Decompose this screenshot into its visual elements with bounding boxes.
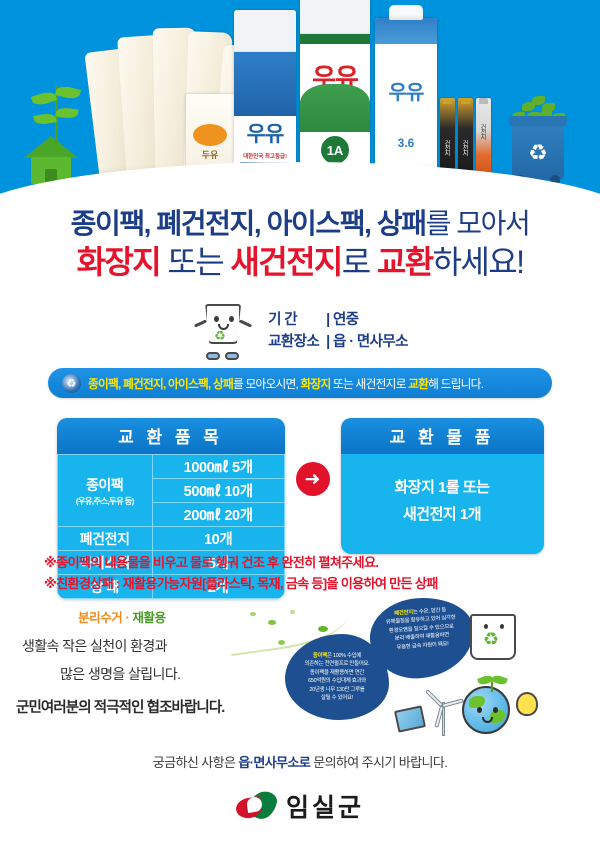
ribbon-text: 종이팩, 폐건전지, 아이스팩, 상패를 모아오시면, 화장지 또는 새건전지로… — [88, 375, 483, 392]
contact-office: 읍·면사무소로 — [238, 755, 310, 770]
recycle-symbol-icon: ♻ — [512, 142, 564, 164]
plant-sprout-icon — [30, 78, 86, 144]
place-divider: | — [326, 334, 329, 350]
milk-carton-1-label: 우유 — [234, 118, 296, 148]
blob1-line-4: 20년생 나무 130만 그루를 — [293, 686, 381, 694]
ribbon-tail: 해 드립니다. — [428, 378, 483, 391]
exchange-reward-body: 화장지 1롤 또는 새건전지 1개 — [341, 454, 544, 554]
milk-carton-cap — [389, 5, 423, 20]
period-place-block: ♻ 기 간| 연중 교환장소| 읍 · 면사무소 — [0, 300, 600, 362]
battery-1-label: 건전지 — [442, 140, 451, 155]
recycle-symbol-icon: ♻ — [483, 630, 499, 648]
period-row: 기 간| 연중 — [268, 309, 408, 331]
reward-line-1: 화장지 1롤 또는 — [341, 474, 544, 501]
table-row: 종이팩 (우유,주스,두유 등) 1000㎖ 5개 — [57, 455, 284, 479]
milk-carton-2: 우유 1A — [300, 0, 370, 178]
decorative-dot — [278, 640, 285, 645]
blob1-line-2: 종이팩을 재활용하면 연간 — [293, 669, 381, 677]
headline-exchange: 교환 — [377, 244, 433, 280]
earth-mascot-icon — [462, 686, 510, 734]
ribbon-tissue: 화장지 — [301, 378, 331, 391]
headline-items: 종이팩, 폐건전지, 아이스팩, 상패 — [71, 208, 426, 239]
cooperation-request: 군민여러분의 적극적인 협조바랍니다. — [16, 696, 224, 717]
decorative-dot — [318, 626, 328, 632]
ribbon-or: 또는 새건전지로 — [331, 378, 409, 391]
headline-tissue: 화장지 — [77, 244, 161, 280]
exchange-arrow-wrap: ➜ — [285, 418, 341, 496]
row-qty-battery: 10개 — [152, 527, 284, 551]
battery-2-label: 건전지 — [460, 140, 469, 155]
blob1-line-0: 종이팩은 100% 수입에 — [293, 652, 381, 660]
row-name-paper-sub: (우유,주스,두유 등) — [60, 495, 150, 507]
row-name-paper-text: 종이팩 — [86, 477, 123, 493]
place-value: 읍 · 면사무소 — [333, 334, 408, 350]
exchange-items-title: 교 환 품 목 — [57, 418, 285, 454]
wind-turbine-icon — [420, 692, 466, 736]
county-logo: 임실군 — [0, 788, 600, 824]
contact-line: 궁금하신 사항은 읍·면사무소로 문의하여 주시기 바랍니다. — [0, 752, 600, 771]
reward-line-2: 새건전지 1개 — [341, 501, 544, 528]
milk-carton-3-fat: 3.6 — [375, 136, 437, 150]
battery-3-label: 건전지 — [478, 124, 487, 139]
headline-line1-tail: 를 모아서 — [426, 208, 530, 239]
headline-to: 로 — [342, 244, 377, 280]
note-2: ※친환경상패 : 재활용가능자원[플라스틱, 목재, 금속 등]을 이용하여 만… — [44, 573, 574, 594]
decorative-dot — [250, 612, 256, 616]
exchange-reward-title: 교 환 물 품 — [341, 418, 544, 454]
period-place-text: 기 간| 연중 교환장소| 읍 · 면사무소 — [268, 309, 408, 353]
battery-2: 건전지 — [458, 98, 473, 178]
milk-carton-3: 우유 3.6 — [375, 18, 437, 178]
blob1-line-5: 살릴 수 있어요! — [293, 694, 381, 702]
place-label: 교환장소 — [268, 331, 326, 353]
trash-can-mascot-icon: ♻ — [192, 300, 254, 362]
row-name-battery: 폐건전지 — [57, 527, 152, 551]
poster-root: 두유 우유 대한민국 최고등급! 우유 1A 우유 3.6 건전지 — [0, 0, 600, 843]
lower-section: 분리수거 · 재활용 생활속 작은 실천이 환경과 많은 생명을 살립니다. 군… — [0, 600, 600, 750]
headline-line-1: 종이팩, 폐건전지, 아이스팩, 상패를 모아서 — [0, 206, 600, 242]
recycle-globe-icon — [62, 374, 81, 393]
headline: 종이팩, 폐건전지, 아이스팩, 상패를 모아서 화장지 또는 새건전지로 교환… — [0, 206, 600, 282]
period-value: 연중 — [333, 312, 358, 328]
ribbon-items: 종이팩, 폐건전지, 아이스팩, 상패 — [88, 378, 233, 391]
headline-battery: 새건전지 — [230, 244, 341, 280]
handwriting-tagline: 분리수거 · 재활용 — [78, 607, 166, 626]
tagline-dot: · — [125, 611, 129, 625]
contact-suffix: 문의하여 주시기 바랍니다. — [310, 755, 447, 770]
exchange-reward-card: 교 환 물 품 화장지 1롤 또는 새건전지 1개 — [341, 418, 544, 554]
contact-prefix: 궁금하신 사항은 — [153, 755, 239, 770]
arrow-right-icon: ➜ — [296, 462, 330, 496]
headline-suffix: 하세요! — [433, 244, 524, 280]
battery-3: 건전지 — [476, 98, 491, 178]
battery-1: 건전지 — [440, 98, 455, 178]
headline-line-2: 화장지 또는 새건전지로 교환하세요! — [0, 242, 600, 282]
recycling-bin-icon: ♻ — [512, 124, 564, 180]
note-1: ※종이팩의 내용물을 비우고 물로 헹궈 건조 후 완전히 펼쳐주세요. — [44, 552, 574, 573]
hero-floor — [0, 162, 600, 200]
period-label: 기 간 — [268, 309, 326, 331]
tagline-recycle: 재활용 — [132, 611, 165, 625]
ribbon-exchange: 교환 — [408, 378, 428, 391]
soymilk-label-oval — [193, 124, 227, 146]
ribbon-mid: 를 모아오시면, — [233, 378, 301, 391]
blob1-line-1: 의존하는 천연펄프로 만들어요. — [293, 660, 381, 668]
tagline-separate: 분리수거 — [78, 611, 122, 625]
trash-bin-mascot-icon: ♻ — [470, 614, 516, 660]
row-qty-paper-200: 200㎖ 20개 — [152, 503, 284, 527]
blob1-line-3: 650억원의 수입대체 효과와 — [293, 677, 381, 685]
row-name-paper: 종이팩 (우유,주스,두유 등) — [57, 455, 152, 527]
row-qty-paper-1000: 1000㎖ 5개 — [152, 455, 284, 479]
milk-carton-1-sub: 대한민국 최고등급! — [234, 152, 296, 160]
decorative-dot — [290, 610, 295, 614]
milk-carton-1: 우유 대한민국 최고등급! — [234, 10, 296, 178]
imsil-logo-mark-icon — [236, 791, 276, 821]
blob2-highlight: 폐건전지 — [394, 610, 413, 617]
decorative-dot — [268, 620, 276, 625]
blob1-line-0-text: 은 100% 수입에 — [327, 653, 361, 659]
table-row: 폐건전지 10개 — [57, 527, 284, 551]
handwriting-line-2: 많은 생명을 살립니다. — [60, 664, 180, 684]
hero-photo-band: 두유 우유 대한민국 최고등급! 우유 1A 우유 3.6 건전지 — [0, 0, 600, 200]
light-bulb-icon — [516, 692, 538, 716]
blob1-highlight: 종이팩 — [313, 653, 327, 659]
period-divider: | — [326, 312, 329, 328]
headline-or: 또는 — [160, 244, 230, 280]
milk-carton-3-label: 우유 — [375, 76, 437, 105]
info-ribbon: 종이팩, 폐건전지, 아이스팩, 상패를 모아오시면, 화장지 또는 새건전지로… — [48, 368, 552, 398]
notes-block: ※종이팩의 내용물을 비우고 물로 헹궈 건조 후 완전히 펼쳐주세요. ※친환… — [44, 552, 574, 594]
soymilk-label: 두유 — [186, 148, 234, 161]
row-qty-paper-500: 500㎖ 10개 — [152, 479, 284, 503]
county-name: 임실군 — [286, 788, 364, 824]
place-row: 교환장소| 읍 · 면사무소 — [268, 331, 408, 353]
handwriting-line-1: 생활속 작은 실천이 환경과 — [22, 636, 167, 656]
